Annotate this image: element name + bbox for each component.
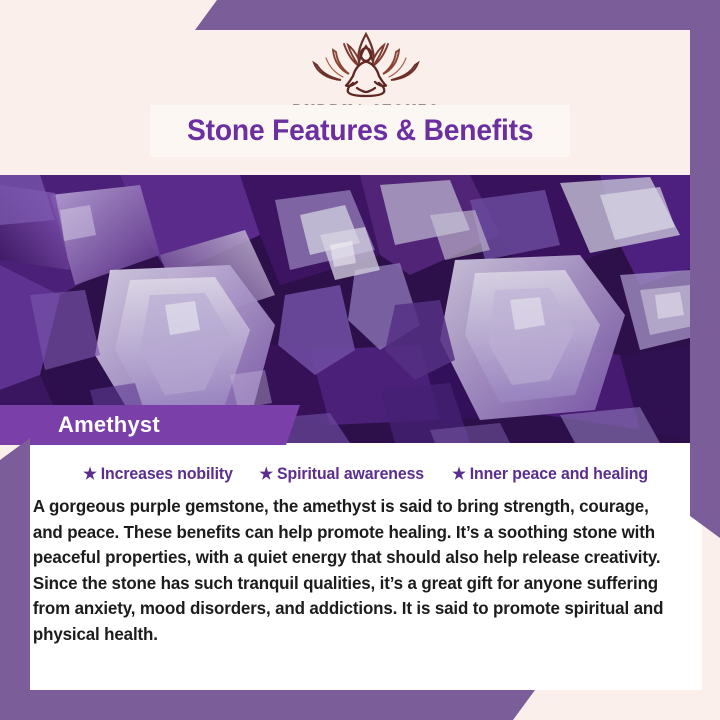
frame-ribbon-top (195, 0, 720, 30)
stone-name-banner: Amethyst (0, 405, 300, 445)
frame-ribbon-right (690, 0, 720, 538)
infographic-page: BUDDHA STONES Stone Features & Benefits (0, 0, 720, 720)
benefit-item-1: ★ Increases nobility (83, 465, 233, 484)
page-title-plate: Stone Features & Benefits (150, 105, 570, 157)
amethyst-crystal-illustration (0, 175, 702, 443)
stone-info-section: ★ Increases nobility ★ Spiritual awarene… (30, 443, 702, 690)
stone-description: A gorgeous purple gemstone, the amethyst… (30, 490, 685, 647)
star-icon: ★ (83, 467, 97, 483)
lotus-meditation-icon (291, 28, 441, 100)
benefit-label: Spiritual awareness (277, 465, 424, 484)
star-icon: ★ (452, 467, 466, 483)
frame-ribbon-bottom (0, 690, 535, 720)
benefits-list: ★ Increases nobility ★ Spiritual awarene… (30, 443, 702, 490)
frame-ribbon-left (0, 438, 30, 720)
benefit-label: Inner peace and healing (469, 465, 647, 484)
benefit-item-2: ★ Spiritual awareness (260, 465, 425, 484)
page-title: Stone Features & Benefits (187, 114, 533, 148)
benefit-item-3: ★ Inner peace and healing (452, 465, 648, 484)
benefit-label: Increases nobility (101, 465, 233, 484)
star-icon: ★ (260, 467, 274, 483)
hero-image (0, 175, 702, 443)
stone-name: Amethyst (58, 412, 160, 438)
